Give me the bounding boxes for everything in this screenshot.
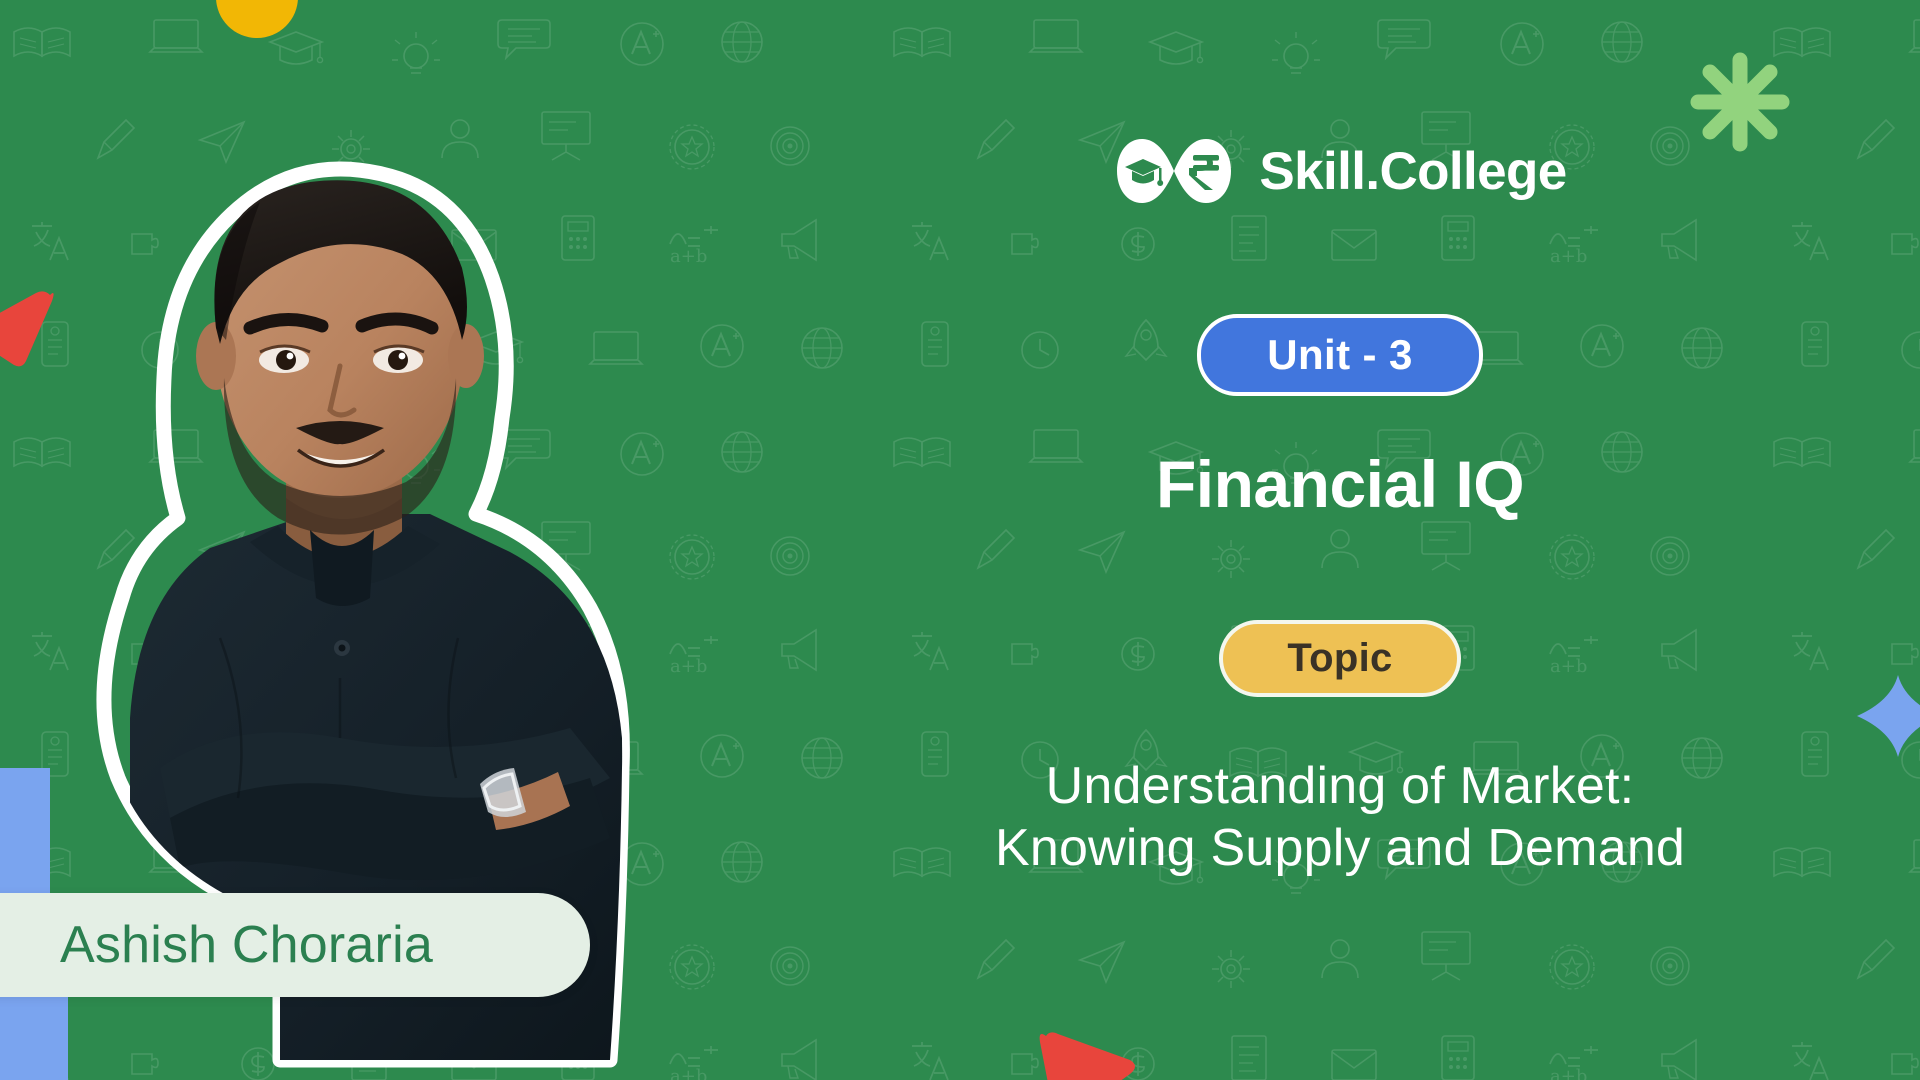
unit-badge: Unit - 3 [1197,314,1483,396]
topic-heading-line-2: Knowing Supply and Demand [995,817,1685,879]
presenter-name: Ashish Choraria [60,915,433,975]
unit-badge-label: Unit - 3 [1267,331,1413,379]
yellow-circle-shape [216,0,298,38]
course-title: Financial IQ [1156,446,1524,522]
topic-heading-line-1: Understanding of Market: [995,755,1685,817]
topic-badge: Topic [1219,620,1460,697]
slide-canvas: a+b [0,0,1920,1080]
brand-logo: Skill.College [1113,128,1566,214]
presenter-name-banner: Ashish Choraria [0,893,590,997]
topic-heading: Understanding of Market: Knowing Supply … [995,755,1685,880]
infinity-graduation-rupee-icon [1113,128,1235,214]
topic-badge-label: Topic [1287,636,1392,681]
brand-name: Skill.College [1259,141,1566,202]
slide-content: Skill.College Unit - 3 Financial IQ Topi… [760,0,1920,1080]
